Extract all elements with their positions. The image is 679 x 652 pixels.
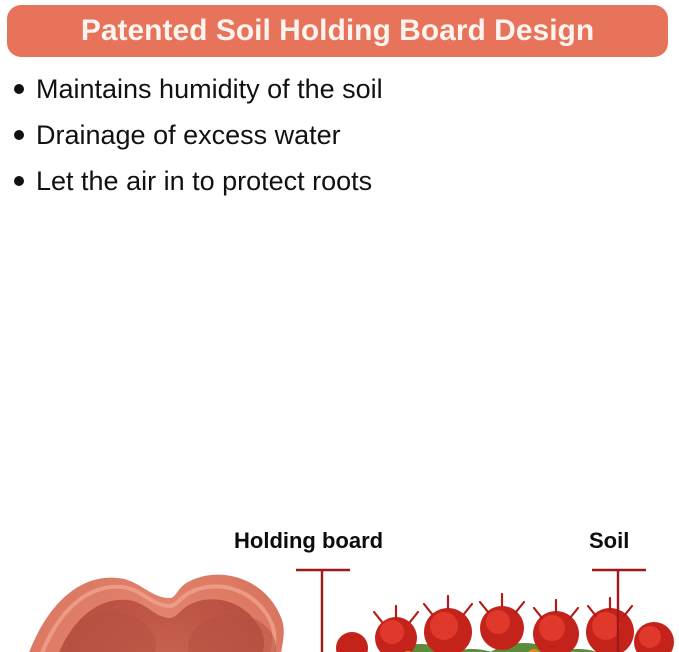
list-item: Drainage of excess water: [14, 118, 654, 164]
red-flowers: [336, 594, 674, 652]
plant-canopy: [310, 594, 679, 652]
bullet-dot-icon: [14, 176, 24, 186]
page-title: Patented Soil Holding Board Design: [81, 16, 594, 46]
callout-label-holding-board: Holding board: [234, 528, 383, 554]
planter-cross-section: [310, 594, 679, 652]
bullet-dot-icon: [14, 130, 24, 140]
diagram-svg: [0, 255, 679, 652]
list-item: Maintains humidity of the soil: [14, 72, 654, 118]
list-item-label: Let the air in to protect roots: [36, 164, 372, 198]
header-banner: Patented Soil Holding Board Design: [7, 5, 668, 57]
list-item-label: Maintains humidity of the soil: [36, 72, 383, 106]
product-diagram: Holding board Soil Water: [0, 255, 679, 652]
product-feature-graphic: Patented Soil Holding Board Design Maint…: [0, 0, 679, 652]
bullet-dot-icon: [14, 84, 24, 94]
list-item: Let the air in to protect roots: [14, 164, 654, 210]
feature-list: Maintains humidity of the soil Drainage …: [14, 72, 654, 210]
callout-label-soil: Soil: [589, 528, 629, 554]
list-item-label: Drainage of excess water: [36, 118, 341, 152]
pot-top-view: [22, 575, 340, 652]
